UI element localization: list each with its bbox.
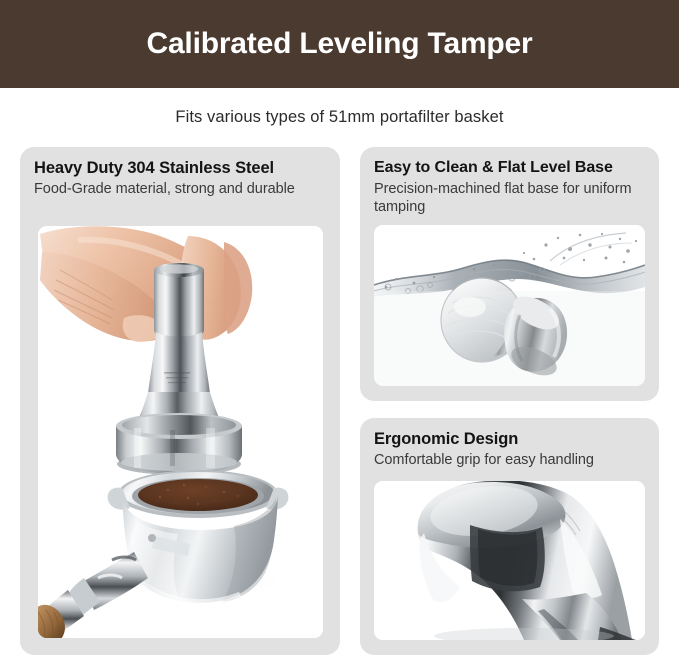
card-header: Ergonomic Design Comfortable grip for ea… bbox=[360, 418, 659, 470]
product-photo-grip-closeup bbox=[374, 481, 645, 640]
product-infographic: Calibrated Leveling Tamper Fits various … bbox=[0, 0, 679, 663]
subtitle-row: Fits various types of 51mm portafilter b… bbox=[0, 88, 679, 147]
water-splash-illustration bbox=[374, 225, 645, 386]
product-photo-water-splash bbox=[374, 225, 645, 386]
header-banner: Calibrated Leveling Tamper bbox=[0, 0, 679, 88]
card-subtitle: Comfortable grip for easy handling bbox=[374, 452, 645, 470]
feature-card-ergonomic: Ergonomic Design Comfortable grip for ea… bbox=[360, 418, 659, 655]
card-title: Heavy Duty 304 Stainless Steel bbox=[34, 159, 326, 178]
tamper-portafilter-illustration bbox=[38, 226, 323, 638]
feature-card-easy-clean: Easy to Clean & Flat Level Base Precisio… bbox=[360, 147, 659, 401]
feature-card-heavy-duty: Heavy Duty 304 Stainless Steel Food-Grad… bbox=[20, 147, 340, 655]
page-title: Calibrated Leveling Tamper bbox=[146, 29, 532, 59]
card-subtitle: Food-Grade material, strong and durable bbox=[34, 181, 326, 199]
card-subtitle: Precision-machined flat base for uniform… bbox=[374, 181, 645, 216]
card-header: Heavy Duty 304 Stainless Steel Food-Grad… bbox=[20, 147, 340, 199]
card-header: Easy to Clean & Flat Level Base Precisio… bbox=[360, 147, 659, 216]
card-title: Ergonomic Design bbox=[374, 430, 645, 449]
subtitle-text: Fits various types of 51mm portafilter b… bbox=[175, 108, 503, 127]
product-photo-tamper-portafilter bbox=[38, 226, 323, 638]
card-title: Easy to Clean & Flat Level Base bbox=[374, 159, 645, 178]
grip-closeup-illustration bbox=[374, 481, 645, 640]
